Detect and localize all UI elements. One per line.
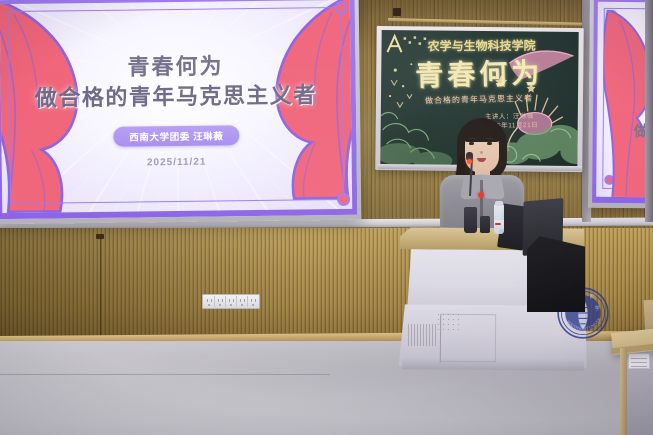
wall-cable: [100, 236, 101, 336]
eye-left: [469, 142, 474, 145]
slide-title-line1: 青春何为: [0, 52, 350, 83]
slide-canvas: 青春何为 做合格的青年马克思主义者 西南大学团委 汪琳薇 2025/11/21: [0, 0, 352, 213]
lecture-hall-scene: 青春何为 做合格的青年马克思主义者 西南大学团委 汪琳薇 2025/11/21 …: [0, 0, 653, 435]
wall-edge: [645, 0, 653, 222]
desk-cup: [464, 207, 477, 233]
power-outlet[interactable]: [248, 296, 258, 307]
water-bottle-label: [494, 220, 504, 229]
floor-seam: [0, 374, 330, 375]
blackboard-headline-text: 青春何为: [415, 51, 544, 94]
power-outlet[interactable]: [204, 296, 215, 307]
corner-node-decoration: [335, 1, 348, 14]
projection-screen-main[interactable]: 青春何为 做合格的青年马克思主义者 西南大学团委 汪琳薇 2025/11/21: [0, 0, 357, 219]
nose: [480, 151, 483, 154]
desk-cup-small: [480, 216, 490, 233]
power-outlet[interactable]: [237, 296, 248, 307]
red-badge-icon: [478, 192, 484, 198]
wall-outlet-bank[interactable]: [202, 294, 260, 309]
microphone-led-indicator: [467, 159, 472, 164]
corner-node-decoration: [337, 193, 350, 206]
water-bottle: [494, 204, 504, 234]
eye-right: [487, 142, 492, 145]
hair-fringe: [462, 122, 502, 142]
slide-title-line2: 做合格的青年马克思主义者: [1, 81, 351, 113]
blackboard-subline-text: 做合格的青年马克思主义者: [425, 93, 533, 107]
power-outlet[interactable]: [215, 296, 226, 307]
podium-monitor-screen[interactable]: [527, 236, 585, 312]
projection-screen-secondary[interactable]: 做: [592, 0, 653, 203]
foreground-table-leg: [620, 348, 627, 435]
podium-access-panel[interactable]: [440, 314, 496, 362]
ceiling-mount-box: [393, 8, 401, 16]
blackboard-header-text: 农学与生物科技学院: [427, 37, 535, 55]
slide-text-block: 青春何为 做合格的青年马克思主义者 西南大学团委 汪琳薇 2025/11/21: [0, 52, 351, 170]
power-outlet[interactable]: [226, 296, 237, 307]
water-bottle-cap: [495, 201, 503, 206]
table-card-label: [628, 353, 650, 369]
slide-presenter-pill: 西南大学团委 汪琳薇: [113, 125, 239, 147]
cable-clip: [96, 234, 104, 239]
podium-vent: [408, 324, 436, 346]
